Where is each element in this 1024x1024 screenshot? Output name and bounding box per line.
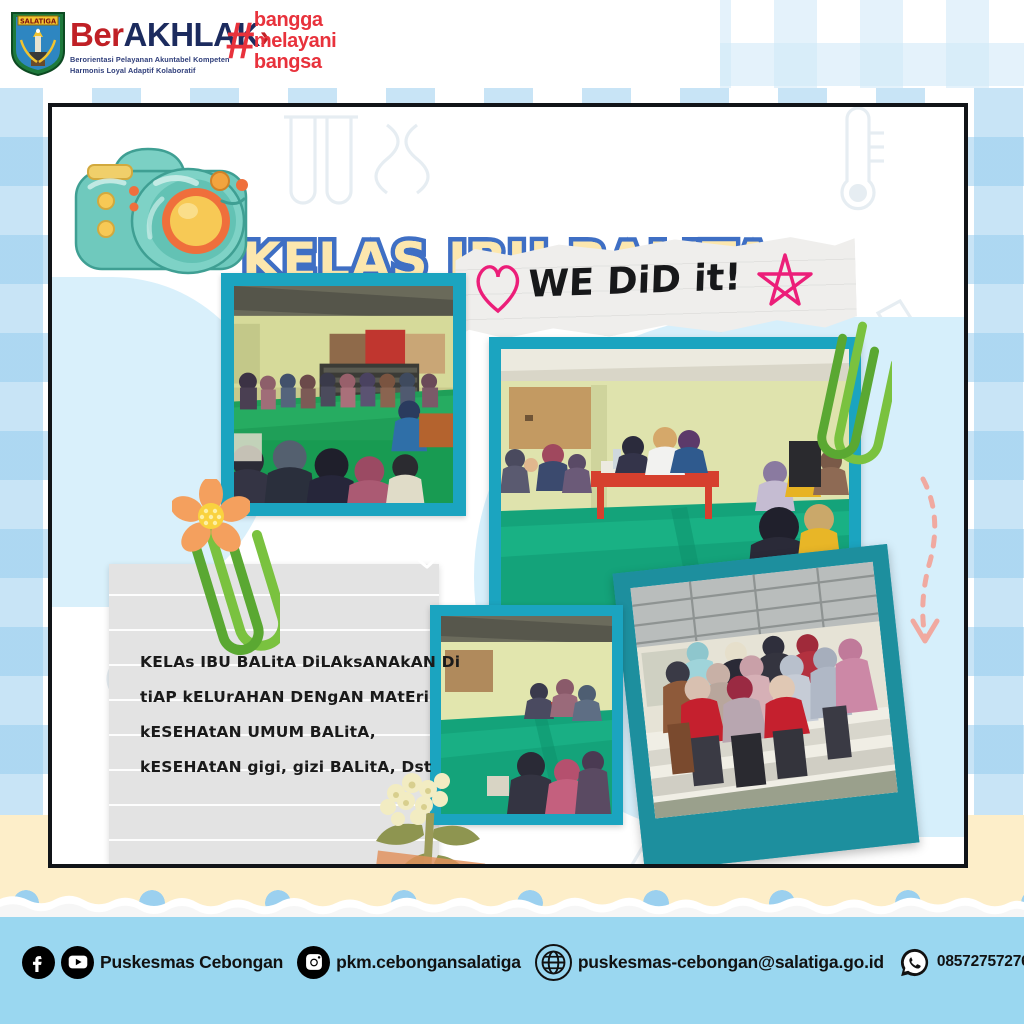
paperclip-green-icon — [806, 319, 892, 489]
we-did-it-text: WE DiD it! — [527, 255, 742, 306]
hashtag-icon: # — [225, 15, 250, 67]
berakhlak-ber: Ber — [70, 16, 124, 53]
footer-text-email: puskesmas-cebongan@salatiga.go.id — [578, 952, 884, 973]
poster-card: KELAS IBU BALITA KELAS IBU BALITA WE DiD… — [48, 103, 968, 868]
bangga-line2: melayani — [254, 31, 336, 52]
berakhlak-tagline-line2: Harmonis Loyal Adaptif Kolaboratif — [70, 66, 250, 77]
bangga-line3: bangsa — [254, 52, 336, 73]
footer-text-whatsapp: 085727572760 — [937, 953, 1024, 971]
flower-orange-icon — [172, 479, 250, 553]
berakhlak-tagline-line1: Berorientasi Pelayanan Akuntabel Kompete… — [70, 55, 250, 66]
svg-text:SALATIGA: SALATIGA — [20, 18, 57, 26]
brand-bar: SALATIGA BerAKHLAK› Berorientasi Pelayan… — [0, 0, 1024, 88]
footer-text-instagram: pkm.cebongansalatiga — [336, 952, 521, 973]
star-outline-pink-icon — [752, 250, 818, 316]
photo-group-team[interactable] — [613, 544, 920, 868]
heart-doodle-white-icon — [382, 517, 472, 577]
camera-icon — [62, 125, 282, 285]
website-icon[interactable] — [535, 944, 572, 981]
bangga-line1: bangga — [254, 10, 336, 31]
facebook-icon[interactable] — [22, 946, 55, 979]
note-line: kESEHAtAN UMUM BALitA, — [140, 715, 430, 750]
poster-root: KELAS IBU BALITA KELAS IBU BALITA WE DiD… — [0, 0, 1024, 1024]
dashed-arrow-icon — [895, 473, 955, 653]
heart-outline-pink-icon — [470, 257, 526, 317]
footer-contact-bar: Puskesmas Cebongan pkm.cebongansalatiga … — [0, 925, 1024, 1024]
bangga-melayani-bangsa-logo: # bangga melayani bangsa — [225, 10, 336, 72]
youtube-icon[interactable] — [61, 946, 94, 979]
whatsapp-icon[interactable] — [898, 946, 931, 979]
salatiga-coat-of-arms-icon: SALATIGA — [9, 10, 67, 76]
instagram-icon[interactable] — [297, 946, 330, 979]
photo-class-session-wide[interactable] — [221, 273, 466, 516]
footer-text-youtube: Puskesmas Cebongan — [100, 952, 283, 973]
dried-flower-icon — [362, 767, 512, 868]
